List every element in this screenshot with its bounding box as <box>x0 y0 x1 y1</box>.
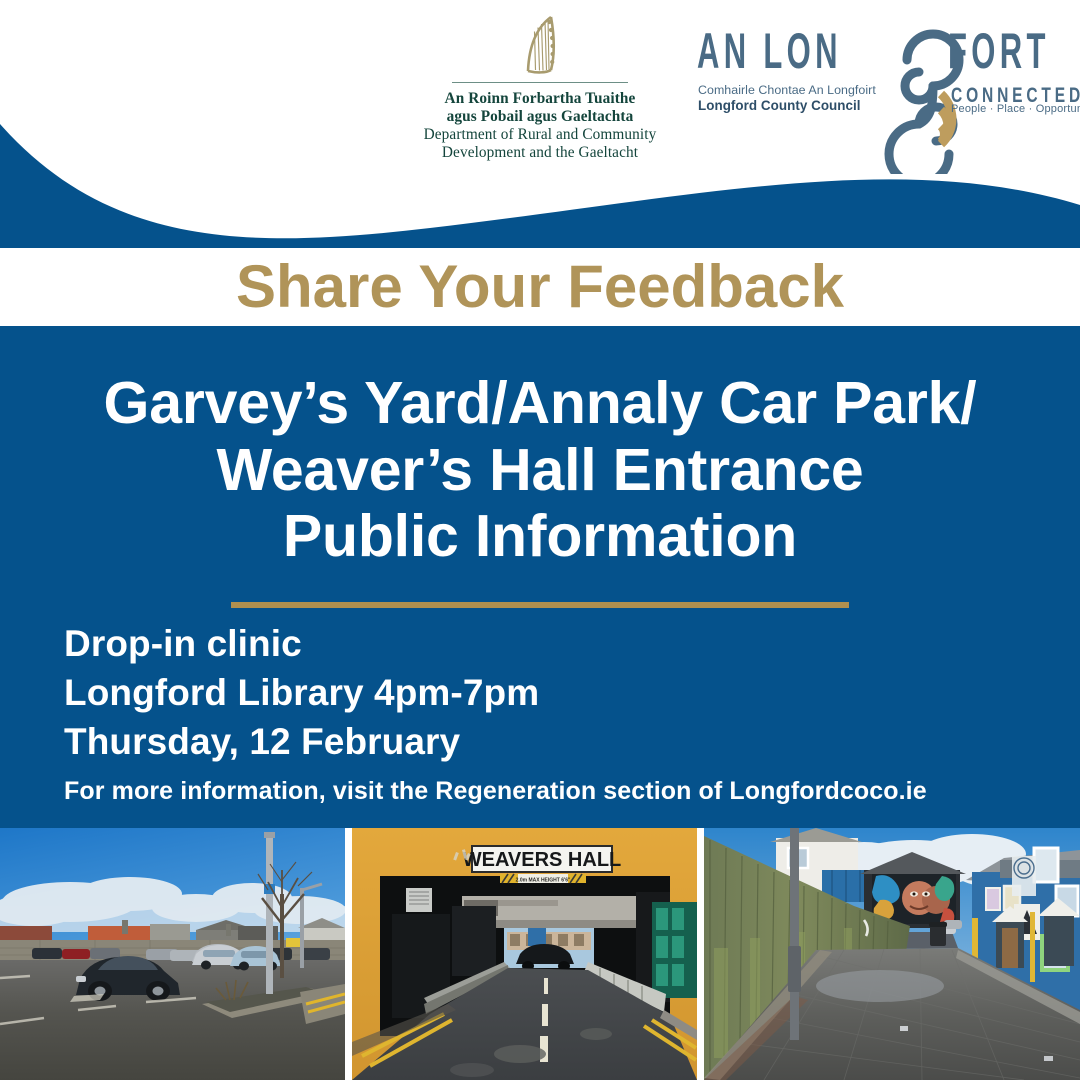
annaly-car-park-photo <box>0 828 345 1080</box>
event-detail-date: Thursday, 12 February <box>64 718 539 767</box>
dept-rural-community-logo: An Roinn Forbartha Tuaithe agus Pobail a… <box>410 14 670 162</box>
garveys-yard-laneway-photo <box>704 828 1080 1080</box>
share-feedback-banner: Share Your Feedback <box>0 248 1080 326</box>
dept-name-en-line1: Department of Rural and Community <box>410 126 670 144</box>
gold-divider <box>231 602 849 608</box>
dept-name-ga-line2: agus Pobail agus Gaeltachta <box>410 108 670 126</box>
more-information-text: For more information, visit the Regenera… <box>64 777 927 806</box>
event-details: Drop-in clinic Longford Library 4pm-7pm … <box>64 620 539 766</box>
page-title-line3: Public Information <box>0 503 1080 570</box>
header-logos: An Roinn Forbartha Tuaithe agus Pobail a… <box>0 0 1080 248</box>
poster: An Roinn Forbartha Tuaithe agus Pobail a… <box>0 0 1080 1080</box>
dept-name-ga-line1: An Roinn Forbartha Tuaithe <box>410 90 670 108</box>
photo-gap-2 <box>697 828 704 1080</box>
council-wordmark-an-lon: AN LON <box>697 22 842 80</box>
longford-county-council-logo: AN LON FORT Comh <box>697 22 1057 182</box>
max-height-sign-text: 2.0m MAX HEIGHT 6'6" <box>516 878 571 884</box>
page-title: Garvey’s Yard/Annaly Car Park/ Weaver’s … <box>0 370 1080 570</box>
dept-name-en-line2: Development and the Gaeltacht <box>410 144 670 162</box>
weavers-hall-entrance-photo: WEAVERS HALL 2.0m MAX HEIGHT 6'6" <box>352 828 697 1080</box>
council-name-ga: Comhairle Chontae An Longfoirt <box>698 83 876 97</box>
photo-strip: WEAVERS HALL 2.0m MAX HEIGHT 6'6" <box>0 828 1080 1080</box>
event-detail-type: Drop-in clinic <box>64 620 539 669</box>
irish-harp-icon <box>520 14 560 76</box>
page-title-line2: Weaver’s Hall Entrance <box>0 437 1080 504</box>
council-tagline: People · Place · Opportunity <box>951 103 1080 115</box>
event-detail-venue-time: Longford Library 4pm-7pm <box>64 669 539 718</box>
share-feedback-title: Share Your Feedback <box>236 257 844 317</box>
dept-logo-divider <box>452 82 628 83</box>
main-body: Garvey’s Yard/Annaly Car Park/ Weaver’s … <box>0 326 1080 828</box>
photo-gap-1 <box>345 828 352 1080</box>
weavers-hall-sign-text: WEAVERS HALL <box>463 849 622 871</box>
page-title-line1: Garvey’s Yard/Annaly Car Park/ <box>0 370 1080 437</box>
council-name-en: Longford County Council <box>698 98 861 113</box>
header-zone: An Roinn Forbartha Tuaithe agus Pobail a… <box>0 0 1080 248</box>
